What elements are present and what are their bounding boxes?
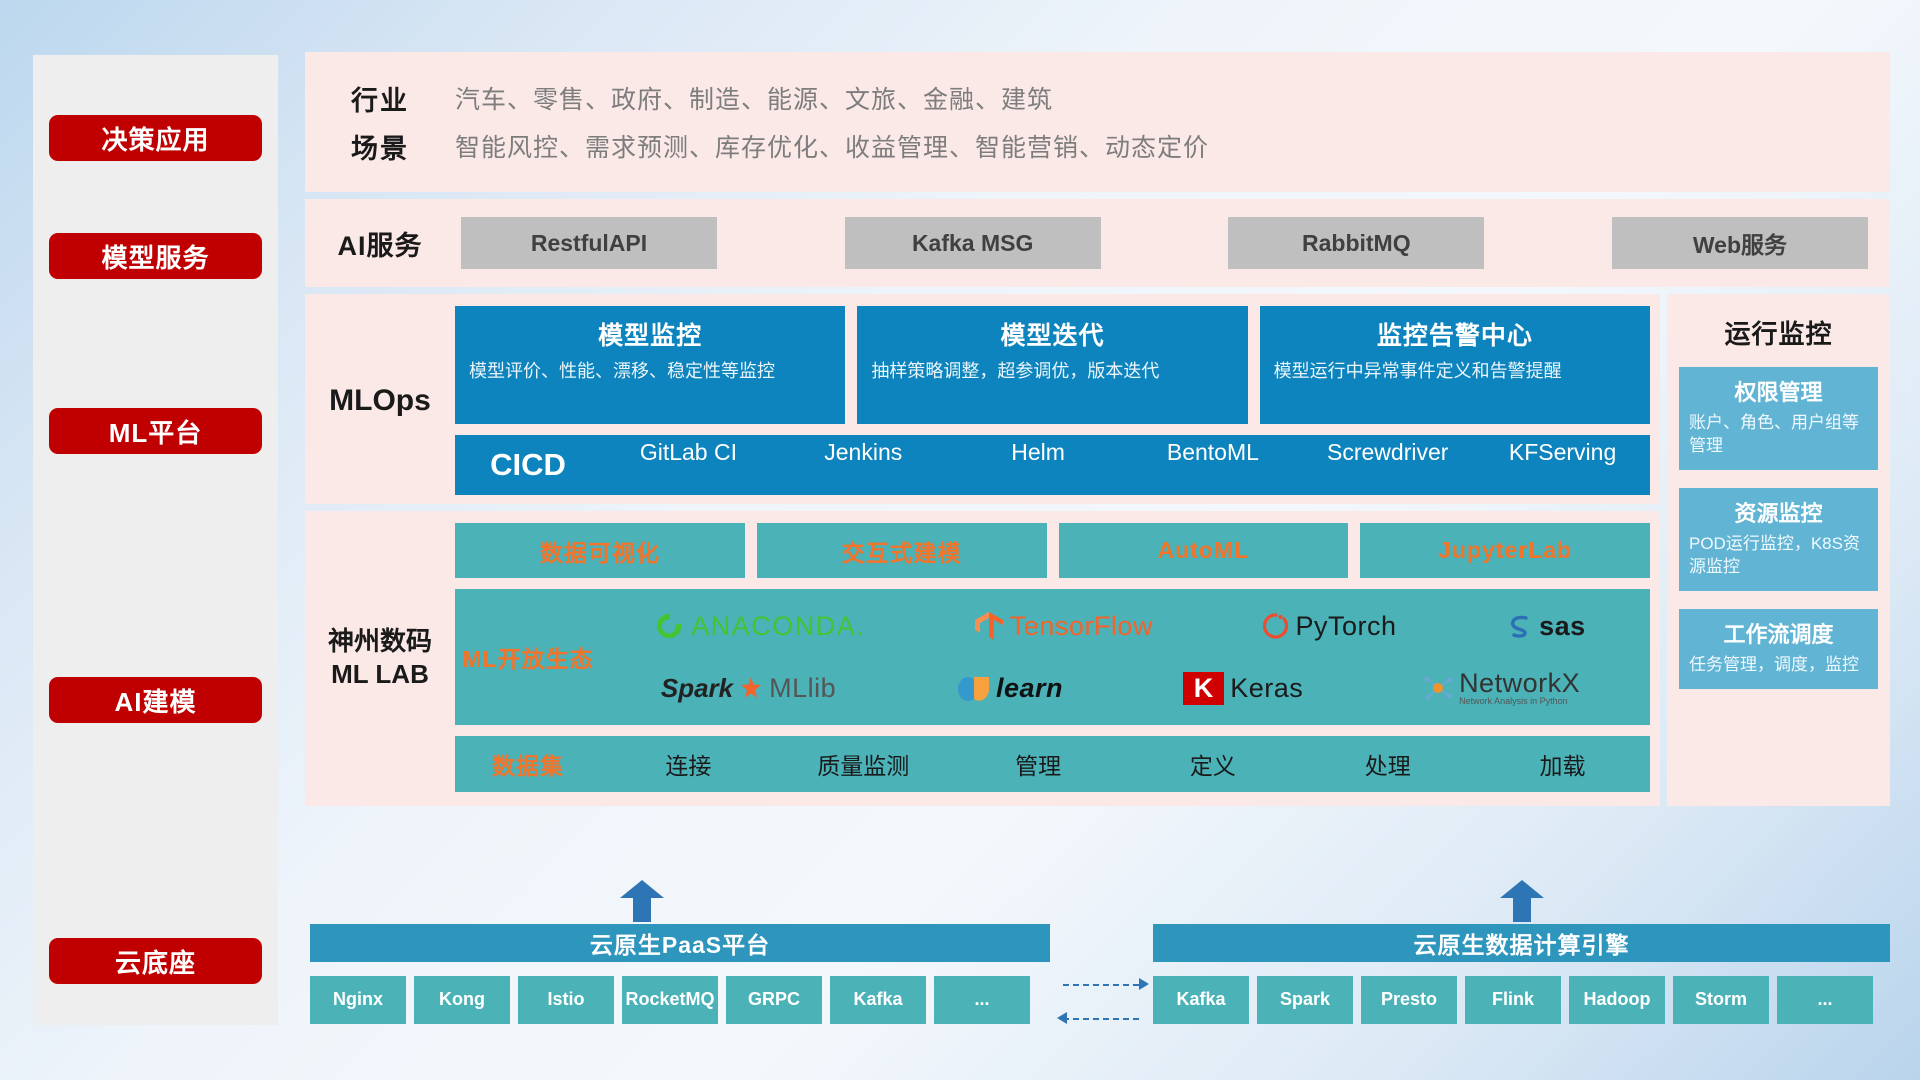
main-column: 行业 汽车、零售、政府、制造、能源、文旅、金融、建筑 场景 智能风控、需求预测、… <box>305 52 1890 806</box>
sas-icon <box>1505 612 1533 640</box>
paas-title: 云原生PaaS平台 <box>310 924 1050 962</box>
cicd-items: GitLab CI Jenkins Helm BentoML Screwdriv… <box>601 435 1650 495</box>
ai-service-label: AI服务 <box>305 224 455 263</box>
compute-chip-hadoop[interactable]: Hadoop <box>1569 976 1665 1024</box>
sas-logo-text: sas <box>1539 611 1586 642</box>
cicd-item-jenkins[interactable]: Jenkins <box>776 435 951 495</box>
networkx-logo: NetworkX Network Analysis in Python <box>1423 670 1580 706</box>
ml-lab-tools: 数据可视化 交互式建模 AutoML JupyterLab <box>455 523 1650 578</box>
compute-chip-presto[interactable]: Presto <box>1361 976 1457 1024</box>
mlops-label: MLOps <box>305 306 455 495</box>
dataset-item-load[interactable]: 加载 <box>1475 747 1650 781</box>
scikit-learn-logo: learn <box>956 673 1063 704</box>
mlops-card-model-monitoring[interactable]: 模型监控 模型评价、性能、漂移、稳定性等监控 <box>455 306 845 424</box>
lab-tool-automl[interactable]: AutoML <box>1059 523 1349 578</box>
service-chip-kafka-msg[interactable]: Kafka MSG <box>845 217 1101 269</box>
rail-item-ai-modeling[interactable]: AI建模 <box>49 677 262 723</box>
spark-mllib-logo: Spark MLlib <box>661 673 836 704</box>
layer-rail: 决策应用 模型服务 ML平台 AI建模 云底座 <box>33 55 278 1025</box>
dataset-item-connect[interactable]: 连接 <box>601 747 776 781</box>
ml-lab-label-line2: ML LAB <box>331 658 429 691</box>
platform-left: MLOps 模型监控 模型评价、性能、漂移、稳定性等监控 模型迭代 抽样策略调整… <box>305 294 1660 806</box>
scikit-blob-icon <box>956 673 990 703</box>
mlops-cards: 模型监控 模型评价、性能、漂移、稳定性等监控 模型迭代 抽样策略调整，超参调优，… <box>455 306 1650 424</box>
monitor-card-workflow[interactable]: 工作流调度 任务管理，调度，监控 <box>1679 609 1878 689</box>
compute-chip-storm[interactable]: Storm <box>1673 976 1769 1024</box>
compute-chips: Kafka Spark Presto Flink Hadoop Storm ..… <box>1153 976 1873 1024</box>
rail-item-model-service[interactable]: 模型服务 <box>49 233 262 279</box>
cicd-bar: CICD GitLab CI Jenkins Helm BentoML Scre… <box>455 435 1650 495</box>
lab-tool-data-visualization[interactable]: 数据可视化 <box>455 523 745 578</box>
industry-label: 行业 <box>305 79 455 118</box>
dataset-item-manage[interactable]: 管理 <box>951 747 1126 781</box>
compute-chip-flink[interactable]: Flink <box>1465 976 1561 1024</box>
cicd-item-bentoml[interactable]: BentoML <box>1125 435 1300 495</box>
tensorflow-logo: TensorFlow <box>974 610 1153 642</box>
dataset-label: 数据集 <box>455 747 601 781</box>
ml-ecosystem-logos: ANACONDA. TensorFlow <box>601 597 1640 717</box>
scenario-row: 场景 智能风控、需求预测、库存优化、收益管理、智能营销、动态定价 <box>305 122 1890 170</box>
paas-chip-grpc[interactable]: GRPC <box>726 976 822 1024</box>
card-title: 模型监控 <box>469 316 831 352</box>
mlops-card-model-iteration[interactable]: 模型迭代 抽样策略调整，超参调优，版本迭代 <box>857 306 1247 424</box>
monitor-card-resource[interactable]: 资源监控 POD运行监控，K8S资源监控 <box>1679 488 1878 591</box>
cicd-item-gitlab-ci[interactable]: GitLab CI <box>601 435 776 495</box>
rail-item-cloud-base[interactable]: 云底座 <box>49 938 262 984</box>
card-title: 工作流调度 <box>1689 617 1868 649</box>
spark-star-icon <box>739 676 763 700</box>
card-desc: 任务管理，调度，监控 <box>1689 654 1868 677</box>
card-title: 模型迭代 <box>871 316 1233 352</box>
arrow-up-compute-icon <box>1500 880 1544 922</box>
ai-service-items: RestfulAPI Kafka MSG RabbitMQ Web服务 <box>455 217 1890 269</box>
scikit-learn-logo-text: learn <box>996 673 1063 704</box>
pytorch-icon <box>1262 611 1290 641</box>
anaconda-logo: ANACONDA. <box>655 611 865 642</box>
cicd-item-screwdriver[interactable]: Screwdriver <box>1300 435 1475 495</box>
compute-title: 云原生数据计算引擎 <box>1153 924 1890 962</box>
architecture-diagram: 决策应用 模型服务 ML平台 AI建模 云底座 行业 汽车、零售、政府、制造、能… <box>0 0 1920 1080</box>
paas-chip-istio[interactable]: Istio <box>518 976 614 1024</box>
pytorch-logo: PyTorch <box>1262 611 1397 642</box>
dataset-item-define[interactable]: 定义 <box>1125 747 1300 781</box>
lab-tool-interactive-modeling[interactable]: 交互式建模 <box>757 523 1047 578</box>
service-chip-rabbitmq[interactable]: RabbitMQ <box>1228 217 1484 269</box>
ecosystem-logo-row-1: ANACONDA. TensorFlow <box>601 597 1640 655</box>
mlops-band: MLOps 模型监控 模型评价、性能、漂移、稳定性等监控 模型迭代 抽样策略调整… <box>305 294 1660 504</box>
tensorflow-logo-text: TensorFlow <box>1010 611 1153 642</box>
keras-k-icon: K <box>1183 672 1225 705</box>
industry-row: 行业 汽车、零售、政府、制造、能源、文旅、金融、建筑 <box>305 74 1890 122</box>
keras-logo-text: Keras <box>1230 673 1303 704</box>
scenario-label: 场景 <box>305 127 455 166</box>
ml-ecosystem: ML开放生态 ANACONDA. <box>455 589 1650 725</box>
scenario-value: 智能风控、需求预测、库存优化、收益管理、智能营销、动态定价 <box>455 128 1209 164</box>
anaconda-logo-text: ANACONDA. <box>691 611 865 642</box>
card-desc: 账户、角色、用户组等管理 <box>1689 412 1868 458</box>
paas-chips: Nginx Kong Istio RocketMQ GRPC Kafka ... <box>310 976 1030 1024</box>
cicd-item-helm[interactable]: Helm <box>951 435 1126 495</box>
anaconda-icon <box>655 611 685 641</box>
paas-chip-more[interactable]: ... <box>934 976 1030 1024</box>
ml-lab-label-line1: 神州数码 <box>328 625 432 658</box>
keras-logo: K Keras <box>1183 672 1304 705</box>
compute-chip-kafka[interactable]: Kafka <box>1153 976 1249 1024</box>
card-desc: POD运行监控，K8S资源监控 <box>1689 533 1868 579</box>
industry-value: 汽车、零售、政府、制造、能源、文旅、金融、建筑 <box>455 80 1053 116</box>
service-chip-web[interactable]: Web服务 <box>1612 217 1868 269</box>
spark-logo-text: Spark <box>661 673 733 704</box>
card-desc: 模型运行中异常事件定义和告警提醒 <box>1274 359 1636 384</box>
networkx-tagline: Network Analysis in Python <box>1459 697 1580 706</box>
networkx-logo-text: NetworkX <box>1459 670 1580 697</box>
arrow-up-paas-icon <box>620 880 664 922</box>
cicd-item-kfserving[interactable]: KFServing <box>1475 435 1650 495</box>
platform-section: MLOps 模型监控 模型评价、性能、漂移、稳定性等监控 模型迭代 抽样策略调整… <box>305 294 1890 806</box>
service-chip-restfulapi[interactable]: RestfulAPI <box>461 217 717 269</box>
card-title: 权限管理 <box>1689 375 1868 407</box>
sas-logo: sas <box>1505 611 1586 642</box>
ml-lab-label: 神州数码 ML LAB <box>305 523 455 792</box>
mlops-card-alert-center[interactable]: 监控告警中心 模型运行中异常事件定义和告警提醒 <box>1260 306 1650 424</box>
mlops-content: 模型监控 模型评价、性能、漂移、稳定性等监控 模型迭代 抽样策略调整，超参调优，… <box>455 306 1660 495</box>
runtime-monitor-title: 运行监控 <box>1679 308 1878 367</box>
dataset-item-process[interactable]: 处理 <box>1300 747 1475 781</box>
tensorflow-icon <box>974 610 1004 642</box>
cloud-base-section: 云原生PaaS平台 云原生数据计算引擎 Nginx Kong Istio Roc… <box>305 880 1890 1030</box>
card-desc: 模型评价、性能、漂移、稳定性等监控 <box>469 359 831 384</box>
compute-chip-spark[interactable]: Spark <box>1257 976 1353 1024</box>
pytorch-logo-text: PyTorch <box>1296 611 1397 642</box>
dataset-items: 连接 质量监测 管理 定义 处理 加载 <box>601 747 1650 781</box>
mllib-logo-text: MLlib <box>769 673 836 704</box>
ecosystem-logo-row-2: Spark MLlib <box>601 659 1640 717</box>
rail-item-ml-platform[interactable]: ML平台 <box>49 408 262 454</box>
ml-ecosystem-label: ML开放生态 <box>455 640 601 674</box>
networkx-text-wrap: NetworkX Network Analysis in Python <box>1459 670 1580 706</box>
dataset-item-quality[interactable]: 质量监测 <box>776 747 951 781</box>
ml-lab-content: 数据可视化 交互式建模 AutoML JupyterLab ML开放生态 <box>455 523 1660 792</box>
lab-tool-jupyterlab[interactable]: JupyterLab <box>1360 523 1650 578</box>
card-title: 监控告警中心 <box>1274 316 1636 352</box>
paas-chip-nginx[interactable]: Nginx <box>310 976 406 1024</box>
card-desc: 抽样策略调整，超参调优，版本迭代 <box>871 359 1233 384</box>
paas-chip-rocketmq[interactable]: RocketMQ <box>622 976 718 1024</box>
decision-app-band: 行业 汽车、零售、政府、制造、能源、文旅、金融、建筑 场景 智能风控、需求预测、… <box>305 52 1890 192</box>
rail-item-decision-app[interactable]: 决策应用 <box>49 115 262 161</box>
runtime-monitor-panel: 运行监控 权限管理 账户、角色、用户组等管理 资源监控 POD运行监控，K8S资… <box>1667 294 1890 806</box>
monitor-card-permission[interactable]: 权限管理 账户、角色、用户组等管理 <box>1679 367 1878 470</box>
cicd-title: CICD <box>455 447 601 483</box>
compute-chip-more[interactable]: ... <box>1777 976 1873 1024</box>
paas-chip-kafka[interactable]: Kafka <box>830 976 926 1024</box>
ml-lab-band: 神州数码 ML LAB 数据可视化 交互式建模 AutoML JupyterLa… <box>305 511 1660 806</box>
ai-service-band: AI服务 RestfulAPI Kafka MSG RabbitMQ Web服务 <box>305 199 1890 287</box>
networkx-icon <box>1423 674 1453 702</box>
bidirectional-link-icon <box>1057 974 1149 1032</box>
card-title: 资源监控 <box>1689 496 1868 528</box>
paas-chip-kong[interactable]: Kong <box>414 976 510 1024</box>
dataset-bar: 数据集 连接 质量监测 管理 定义 处理 加载 <box>455 736 1650 792</box>
